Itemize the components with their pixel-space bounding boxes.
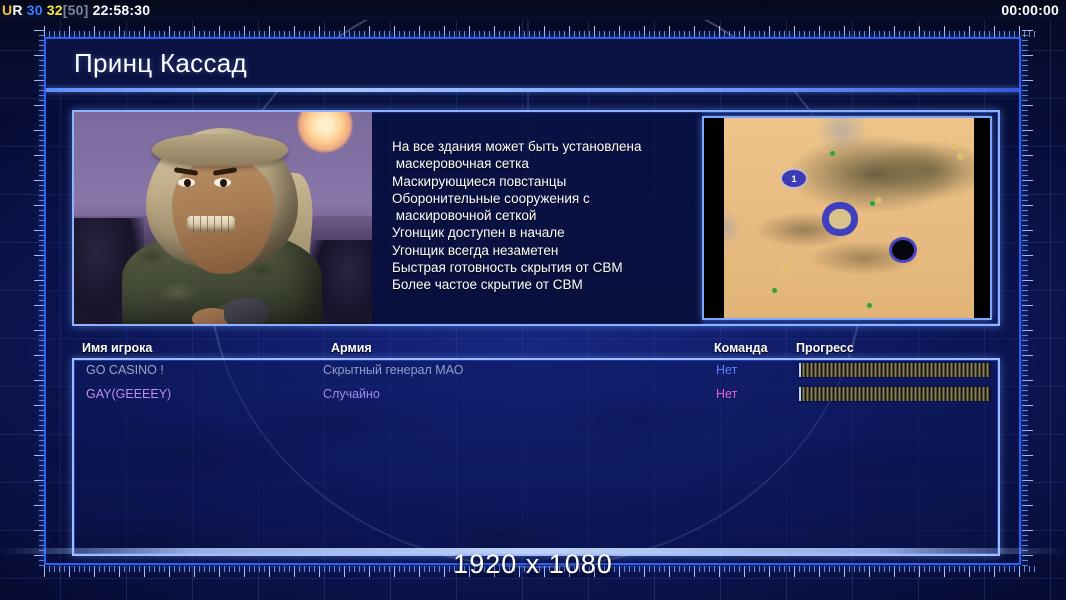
column-header-army: Армия bbox=[331, 341, 372, 355]
general-ability-description: На все здания может быть установлена мас… bbox=[372, 112, 702, 324]
column-header-team: Команда bbox=[714, 341, 768, 355]
map-resource-dot bbox=[870, 201, 875, 206]
map-resource-dot bbox=[958, 154, 963, 159]
map-resource-dot bbox=[952, 143, 957, 148]
map-feature-crater bbox=[892, 240, 914, 260]
map-preview[interactable]: 1 bbox=[702, 116, 992, 320]
player-table-header: Имя игрока Армия Команда Прогресс bbox=[82, 341, 1000, 357]
player-progress-bar bbox=[799, 363, 990, 377]
status-bar: UR 30 32[50] 22:58:30 00:00:00 bbox=[0, 0, 1066, 20]
table-row[interactable]: GAY(GEEEEY) Случайно Нет bbox=[74, 384, 998, 408]
sun-icon bbox=[298, 112, 352, 152]
player-progress-bar bbox=[799, 387, 990, 401]
player-army[interactable]: Случайно bbox=[323, 387, 380, 401]
status-value-yellow: 32 bbox=[47, 2, 63, 18]
status-bar-left: UR 30 32[50] 22:58:30 bbox=[0, 2, 150, 18]
general-info-panel: На все здания может быть установлена мас… bbox=[72, 110, 1000, 326]
resolution-label: 1920 x 1080 bbox=[0, 549, 1066, 580]
player-army[interactable]: Скрытный генерал МАО bbox=[323, 363, 463, 377]
portrait-kettle bbox=[224, 298, 268, 324]
title-bar: Принц Кассад bbox=[46, 39, 1019, 88]
column-header-progress: Прогресс bbox=[796, 341, 854, 355]
status-value-blue: 30 bbox=[27, 2, 43, 18]
status-clock: 22:58:30 bbox=[93, 2, 151, 18]
status-bar-right: 00:00:00 bbox=[1001, 2, 1066, 18]
portrait-pupil-right bbox=[220, 179, 227, 187]
map-start-position-marker: 1 bbox=[782, 170, 806, 187]
map-resource-dot bbox=[782, 268, 787, 273]
player-team[interactable]: Нет bbox=[716, 363, 737, 377]
portrait-pupil-left bbox=[184, 179, 191, 187]
status-prefix-r: R bbox=[12, 2, 22, 18]
player-name: GAY(GEEEEY) bbox=[86, 387, 171, 401]
map-resource-dot bbox=[772, 288, 777, 293]
map-resource-dot bbox=[867, 303, 872, 308]
ability-list-text: На все здания может быть установлена мас… bbox=[392, 138, 692, 294]
match-timer: 00:00:00 bbox=[1001, 2, 1059, 18]
status-prefix-u: U bbox=[2, 2, 12, 18]
table-row[interactable]: GO CASINO ! Скрытный генерал МАО Нет bbox=[74, 360, 998, 384]
map-resource-dot bbox=[830, 151, 835, 156]
player-team[interactable]: Нет bbox=[716, 387, 737, 401]
title-underline bbox=[46, 88, 1019, 92]
map-feature-lake bbox=[822, 202, 858, 236]
portrait-teeth bbox=[187, 216, 235, 232]
player-name: GO CASINO ! bbox=[86, 363, 164, 377]
map-resource-dot bbox=[876, 198, 881, 203]
column-header-name: Имя игрока bbox=[82, 341, 152, 355]
portrait-headband bbox=[152, 134, 288, 166]
page-title: Принц Кассад bbox=[46, 48, 247, 79]
status-value-bracket: [50] bbox=[63, 2, 89, 18]
player-list-panel: GO CASINO ! Скрытный генерал МАО Нет GAY… bbox=[72, 358, 1000, 556]
general-portrait bbox=[74, 112, 372, 324]
